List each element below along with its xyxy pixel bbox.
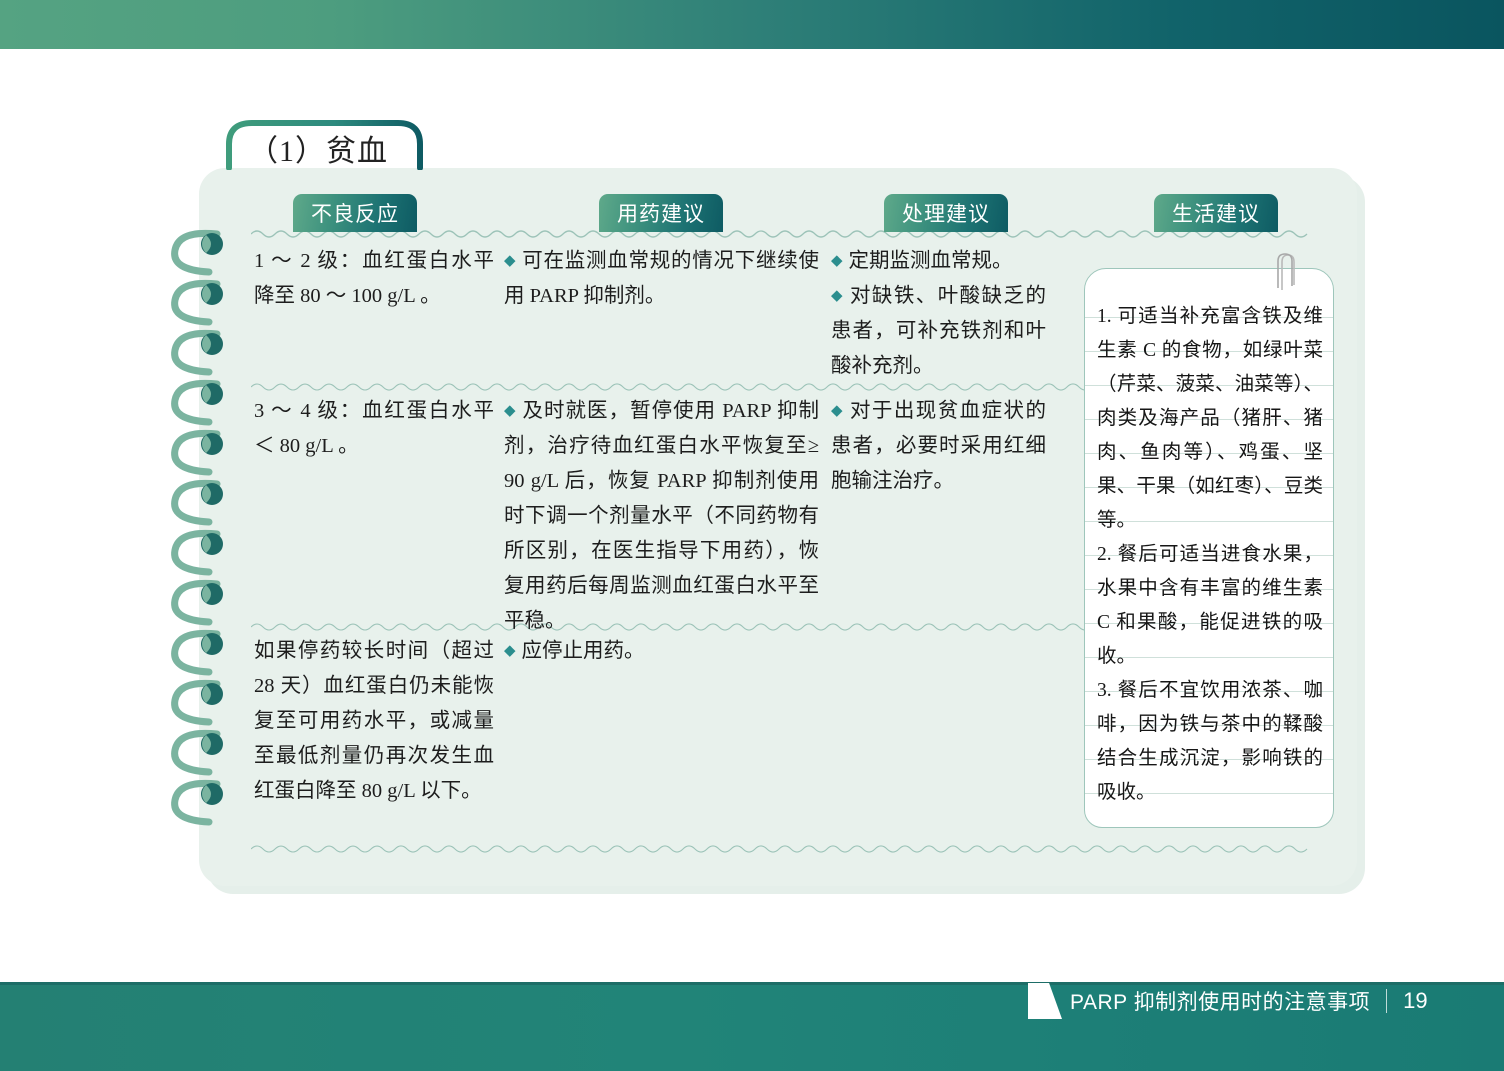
bullet-item: ◆可在监测血常规的情况下继续使用 PARP 抑制剂。 xyxy=(504,244,819,314)
footer-ribbon: PARP 抑制剂使用时的注意事项 19 xyxy=(1028,983,1428,1019)
cell-r2-medication-advice: ◆及时就医，暂停使用 PARP 抑制剂，治疗待血红蛋白水平恢复至≥ 90 g/L… xyxy=(504,394,819,639)
diamond-bullet-icon: ◆ xyxy=(504,643,516,659)
cell-text: 1 ～ 2 级：血红蛋白水平降至 80 ～ 100 g/L 。 xyxy=(254,244,494,314)
diamond-bullet-icon: ◆ xyxy=(504,403,517,419)
spiral-rings-icon xyxy=(163,228,243,838)
cell-r3-medication-advice: ◆应停止用药。 xyxy=(504,634,819,669)
footer-page-number: 19 xyxy=(1403,988,1427,1014)
cell-text: 应停止用药。 xyxy=(522,640,645,662)
cell-r1-management-advice: ◆定期监测血常规。 ◆对缺铁、叶酸缺乏的患者，可补充铁剂和叶酸补充剂。 xyxy=(831,244,1046,384)
cell-text: 如果停药较长时间（超过 28 天）血红蛋白仍未能恢复至可用药水平，或减量至最低剂… xyxy=(254,634,494,809)
footer-separator xyxy=(1386,989,1387,1013)
cell-text: 对缺铁、叶酸缺乏的患者，可补充铁剂和叶酸补充剂。 xyxy=(831,285,1046,377)
cell-r1-medication-advice: ◆可在监测血常规的情况下继续使用 PARP 抑制剂。 xyxy=(504,244,819,314)
diamond-bullet-icon: ◆ xyxy=(831,288,844,304)
top-decorative-bar xyxy=(0,0,1504,49)
content-panel: 不良反应 用药建议 处理建议 生活建议 xyxy=(199,168,1357,886)
cell-text: 及时就医，暂停使用 PARP 抑制剂，治疗待血红蛋白水平恢复至≥ 90 g/L … xyxy=(504,400,819,632)
footer-notch-shape xyxy=(1028,983,1062,1019)
column-header-medication-advice[interactable]: 用药建议 xyxy=(599,194,723,232)
diamond-bullet-icon: ◆ xyxy=(504,253,516,269)
note-item-3: 3. 餐后不宜饮用浓茶、咖啡，因为铁与茶中的鞣酸结合生成沉淀，影响铁的吸收。 xyxy=(1097,674,1323,810)
cell-text: 对于出现贫血症状的患者，必要时采用红细胞输注治疗。 xyxy=(831,400,1046,492)
column-header-management-advice[interactable]: 处理建议 xyxy=(884,194,1008,232)
lifestyle-note-card: 1. 可适当补充富含铁及维生素 C 的食物，如绿叶菜（芹菜、菠菜、油菜等）、肉类… xyxy=(1084,268,1334,828)
cell-text: 定期监测血常规。 xyxy=(849,250,1013,272)
page-root: （1）贫血 不良反应 用药建议 处理建议 生活建议 xyxy=(0,0,1504,1071)
bullet-item: ◆定期监测血常规。 xyxy=(831,244,1046,279)
column-header-lifestyle-advice[interactable]: 生活建议 xyxy=(1154,194,1278,232)
diamond-bullet-icon: ◆ xyxy=(831,253,843,269)
spiral-binding xyxy=(163,228,243,838)
cell-r2-adverse-reaction: 3 ～ 4 级：血红蛋白水平＜ 80 g/L 。 xyxy=(254,394,494,464)
note-item-1: 1. 可适当补充富含铁及维生素 C 的食物，如绿叶菜（芹菜、菠菜、油菜等）、肉类… xyxy=(1097,300,1323,538)
cell-text: 3 ～ 4 级：血红蛋白水平＜ 80 g/L 。 xyxy=(254,394,494,464)
diamond-bullet-icon: ◆ xyxy=(831,403,844,419)
bullet-item: ◆对缺铁、叶酸缺乏的患者，可补充铁剂和叶酸补充剂。 xyxy=(831,279,1046,384)
cell-r3-adverse-reaction: 如果停药较长时间（超过 28 天）血红蛋白仍未能恢复至可用药水平，或减量至最低剂… xyxy=(254,634,494,809)
footer-title: PARP 抑制剂使用时的注意事项 xyxy=(1070,986,1370,1016)
section-title-tab: （1）贫血 xyxy=(226,118,424,170)
cell-r1-adverse-reaction: 1 ～ 2 级：血红蛋白水平降至 80 ～ 100 g/L 。 xyxy=(254,244,494,314)
note-item-2: 2. 餐后可适当进食水果，水果中含有丰富的维生素 C 和果酸，能促进铁的吸收。 xyxy=(1097,538,1323,674)
bullet-item: ◆应停止用药。 xyxy=(504,634,819,669)
bullet-item: ◆对于出现贫血症状的患者，必要时采用红细胞输注治疗。 xyxy=(831,394,1046,499)
column-header-adverse-reaction[interactable]: 不良反应 xyxy=(293,194,417,232)
paperclip-icon xyxy=(1273,252,1299,292)
cell-text: 可在监测血常规的情况下继续使用 PARP 抑制剂。 xyxy=(504,250,819,307)
section-title-label: （1）贫血 xyxy=(248,126,388,170)
bullet-item: ◆及时就医，暂停使用 PARP 抑制剂，治疗待血红蛋白水平恢复至≥ 90 g/L… xyxy=(504,394,819,639)
cell-r2-management-advice: ◆对于出现贫血症状的患者，必要时采用红细胞输注治疗。 xyxy=(831,394,1046,499)
column-header-row: 不良反应 用药建议 处理建议 生活建议 xyxy=(199,194,1357,232)
lifestyle-note-text: 1. 可适当补充富含铁及维生素 C 的食物，如绿叶菜（芹菜、菠菜、油菜等）、肉类… xyxy=(1097,300,1323,810)
